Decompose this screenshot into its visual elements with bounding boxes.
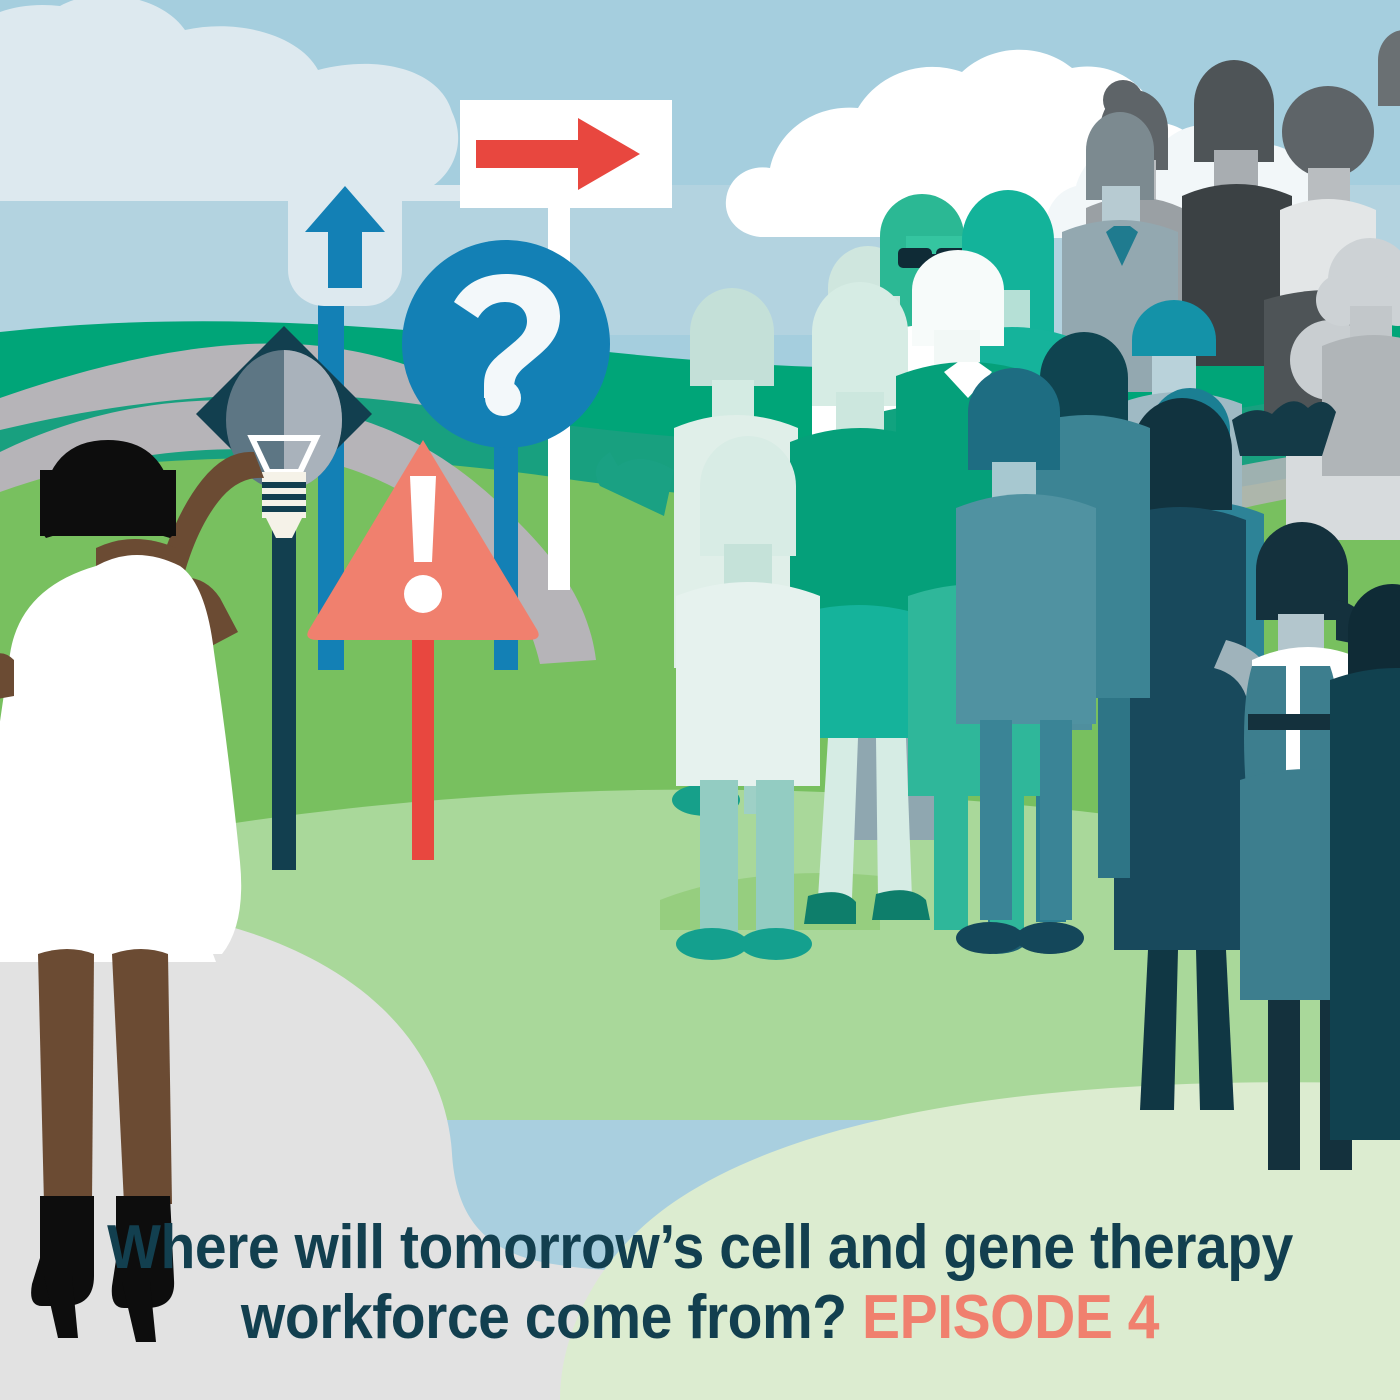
scene-illustration: [0, 0, 1400, 1400]
right-arrow-sign: [460, 100, 672, 208]
question-sign: [402, 240, 610, 448]
illustration-canvas: Where will tomorrow’s cell and gene ther…: [0, 0, 1400, 1400]
up-arrow-sign: [288, 160, 402, 306]
